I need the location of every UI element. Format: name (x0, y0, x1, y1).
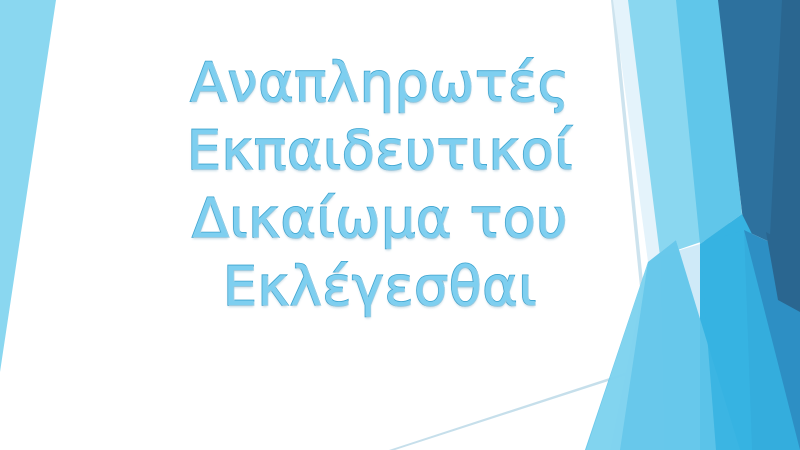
background-decoration (0, 0, 800, 450)
left-wedge-shape (0, 0, 56, 372)
slide-canvas: Αναπληρωτές Εκπαιδευτικοί Δικαίωμα του Ε… (0, 0, 800, 450)
